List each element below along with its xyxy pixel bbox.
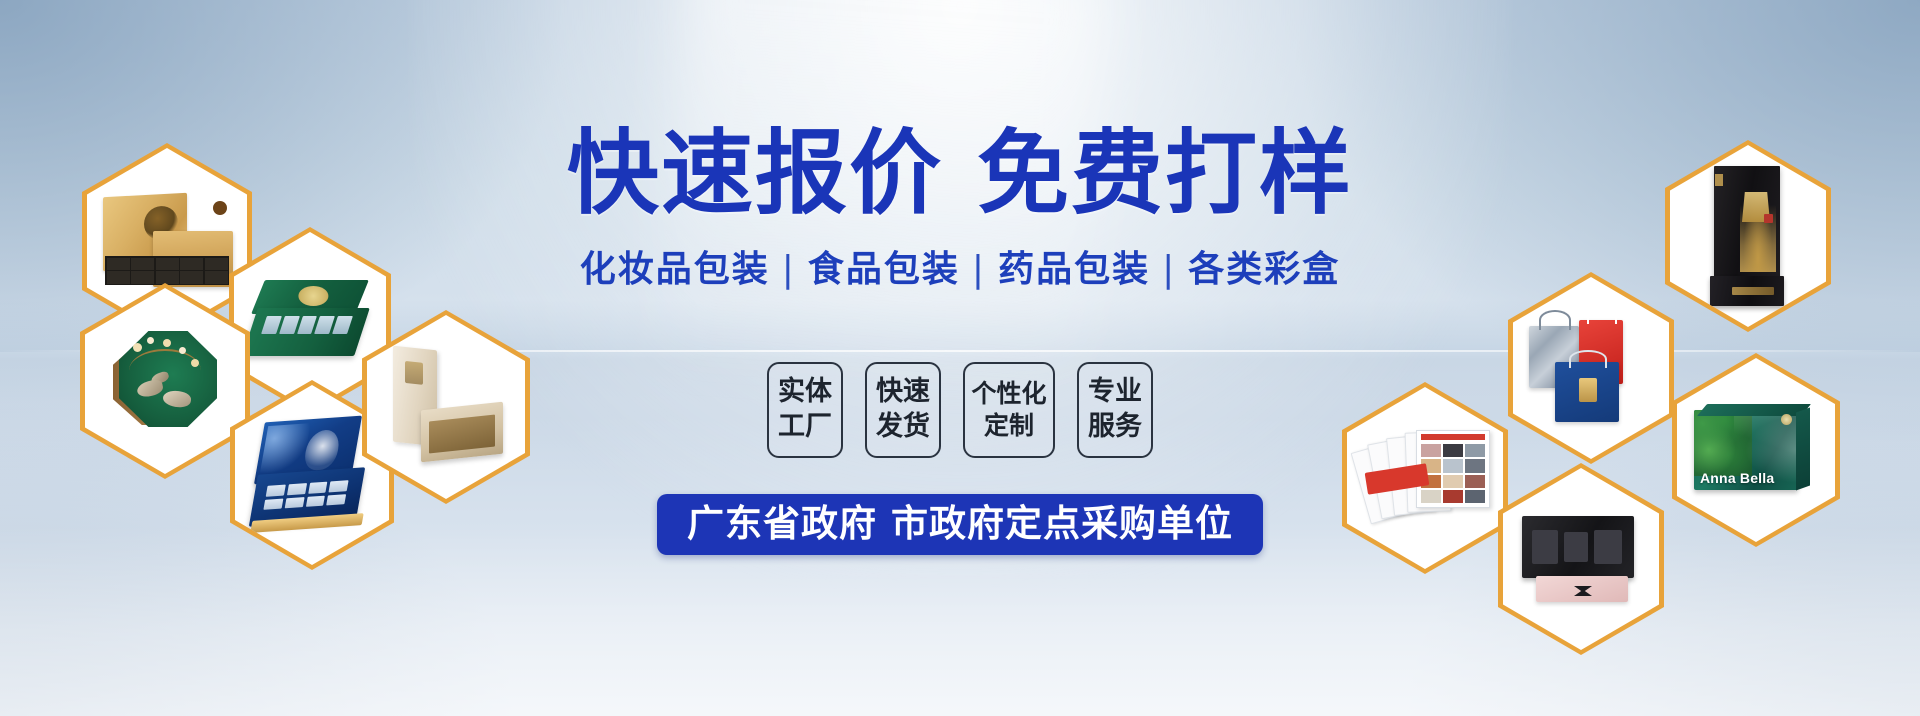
product-image-black-gold-tall-box — [1706, 166, 1790, 306]
product-image-gold-gift-box — [101, 193, 233, 289]
product-image-anna-bella-box: Anna Bella — [1694, 404, 1818, 496]
product-image-blue-gold-box — [254, 419, 370, 531]
background-light-beam-secondary — [659, 0, 1107, 394]
product-image-green-octagon-box — [111, 329, 219, 433]
product-image-black-gift-set — [1522, 516, 1640, 602]
product-image-green-gift-box — [250, 280, 370, 362]
promo-banner: Anna Bella 快速报价免费打样 化妆品包装|食品包装|药品包装|各类彩盒… — [0, 0, 1920, 716]
product-image-catalogue-leaflets — [1360, 424, 1490, 532]
anna-bella-label: Anna Bella — [1700, 470, 1774, 486]
product-image-cream-book-box — [387, 348, 505, 466]
product-image-shopping-bags — [1527, 310, 1655, 426]
